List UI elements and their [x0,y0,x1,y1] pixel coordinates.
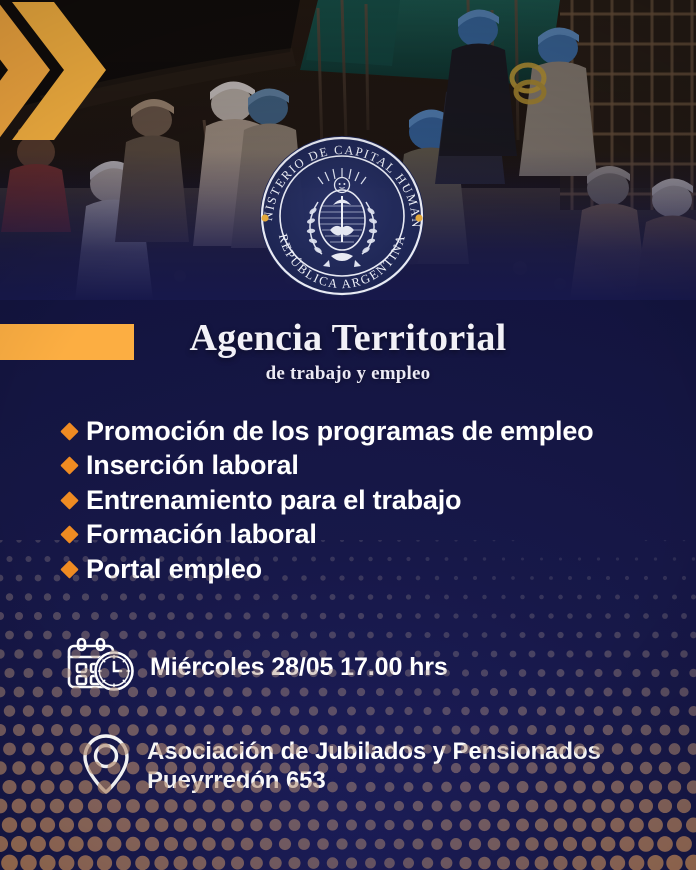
ministerio-capital-humano-seal: MINISTERIO DE CAPITAL HUMANO REPÚBLICA A… [244,126,440,302]
event-location-text: Asociación de Jubilados y Pensionados Pu… [147,738,601,795]
map-pin-icon [82,733,130,800]
event-location-line1: Asociación de Jubilados y Pensionados [147,738,601,765]
list-item: Entrenamiento para el trabajo [63,483,663,518]
event-location-row: Asociación de Jubilados y Pensionados Pu… [82,733,601,800]
event-date-text: Miércoles 28/05 17.00 hrs [150,653,448,682]
event-date-row: Miércoles 28/05 17.00 hrs [66,637,448,698]
diamond-bullet-icon [60,560,78,578]
header-titles: Agencia Territorial de trabajo y empleo [0,318,696,385]
list-item-label: Inserción laboral [86,450,299,481]
list-item-label: Promoción de los programas de empleo [86,416,593,447]
diamond-bullet-icon [60,526,78,544]
event-location-line2: Pueyrredón 653 [147,767,326,794]
page-subtitle: de trabajo y empleo [0,363,696,385]
list-item: Formación laboral [63,518,663,553]
list-item-label: Entrenamiento para el trabajo [86,485,461,516]
list-item-label: Formación laboral [86,519,317,550]
diamond-bullet-icon [60,491,78,509]
double-chevron-right-icon [0,0,126,145]
list-item: Promoción de los programas de empleo [63,414,663,449]
services-list: Promoción de los programas de empleo Ins… [63,414,663,587]
page-title: Agencia Territorial [0,318,696,358]
list-item-label: Portal empleo [86,554,262,585]
diamond-bullet-icon [60,457,78,475]
list-item: Portal empleo [63,552,663,587]
calendar-clock-icon [66,637,136,698]
poster: MINISTERIO DE CAPITAL HUMANO REPÚBLICA A… [0,0,696,870]
list-item: Inserción laboral [63,449,663,484]
diamond-bullet-icon [60,422,78,440]
